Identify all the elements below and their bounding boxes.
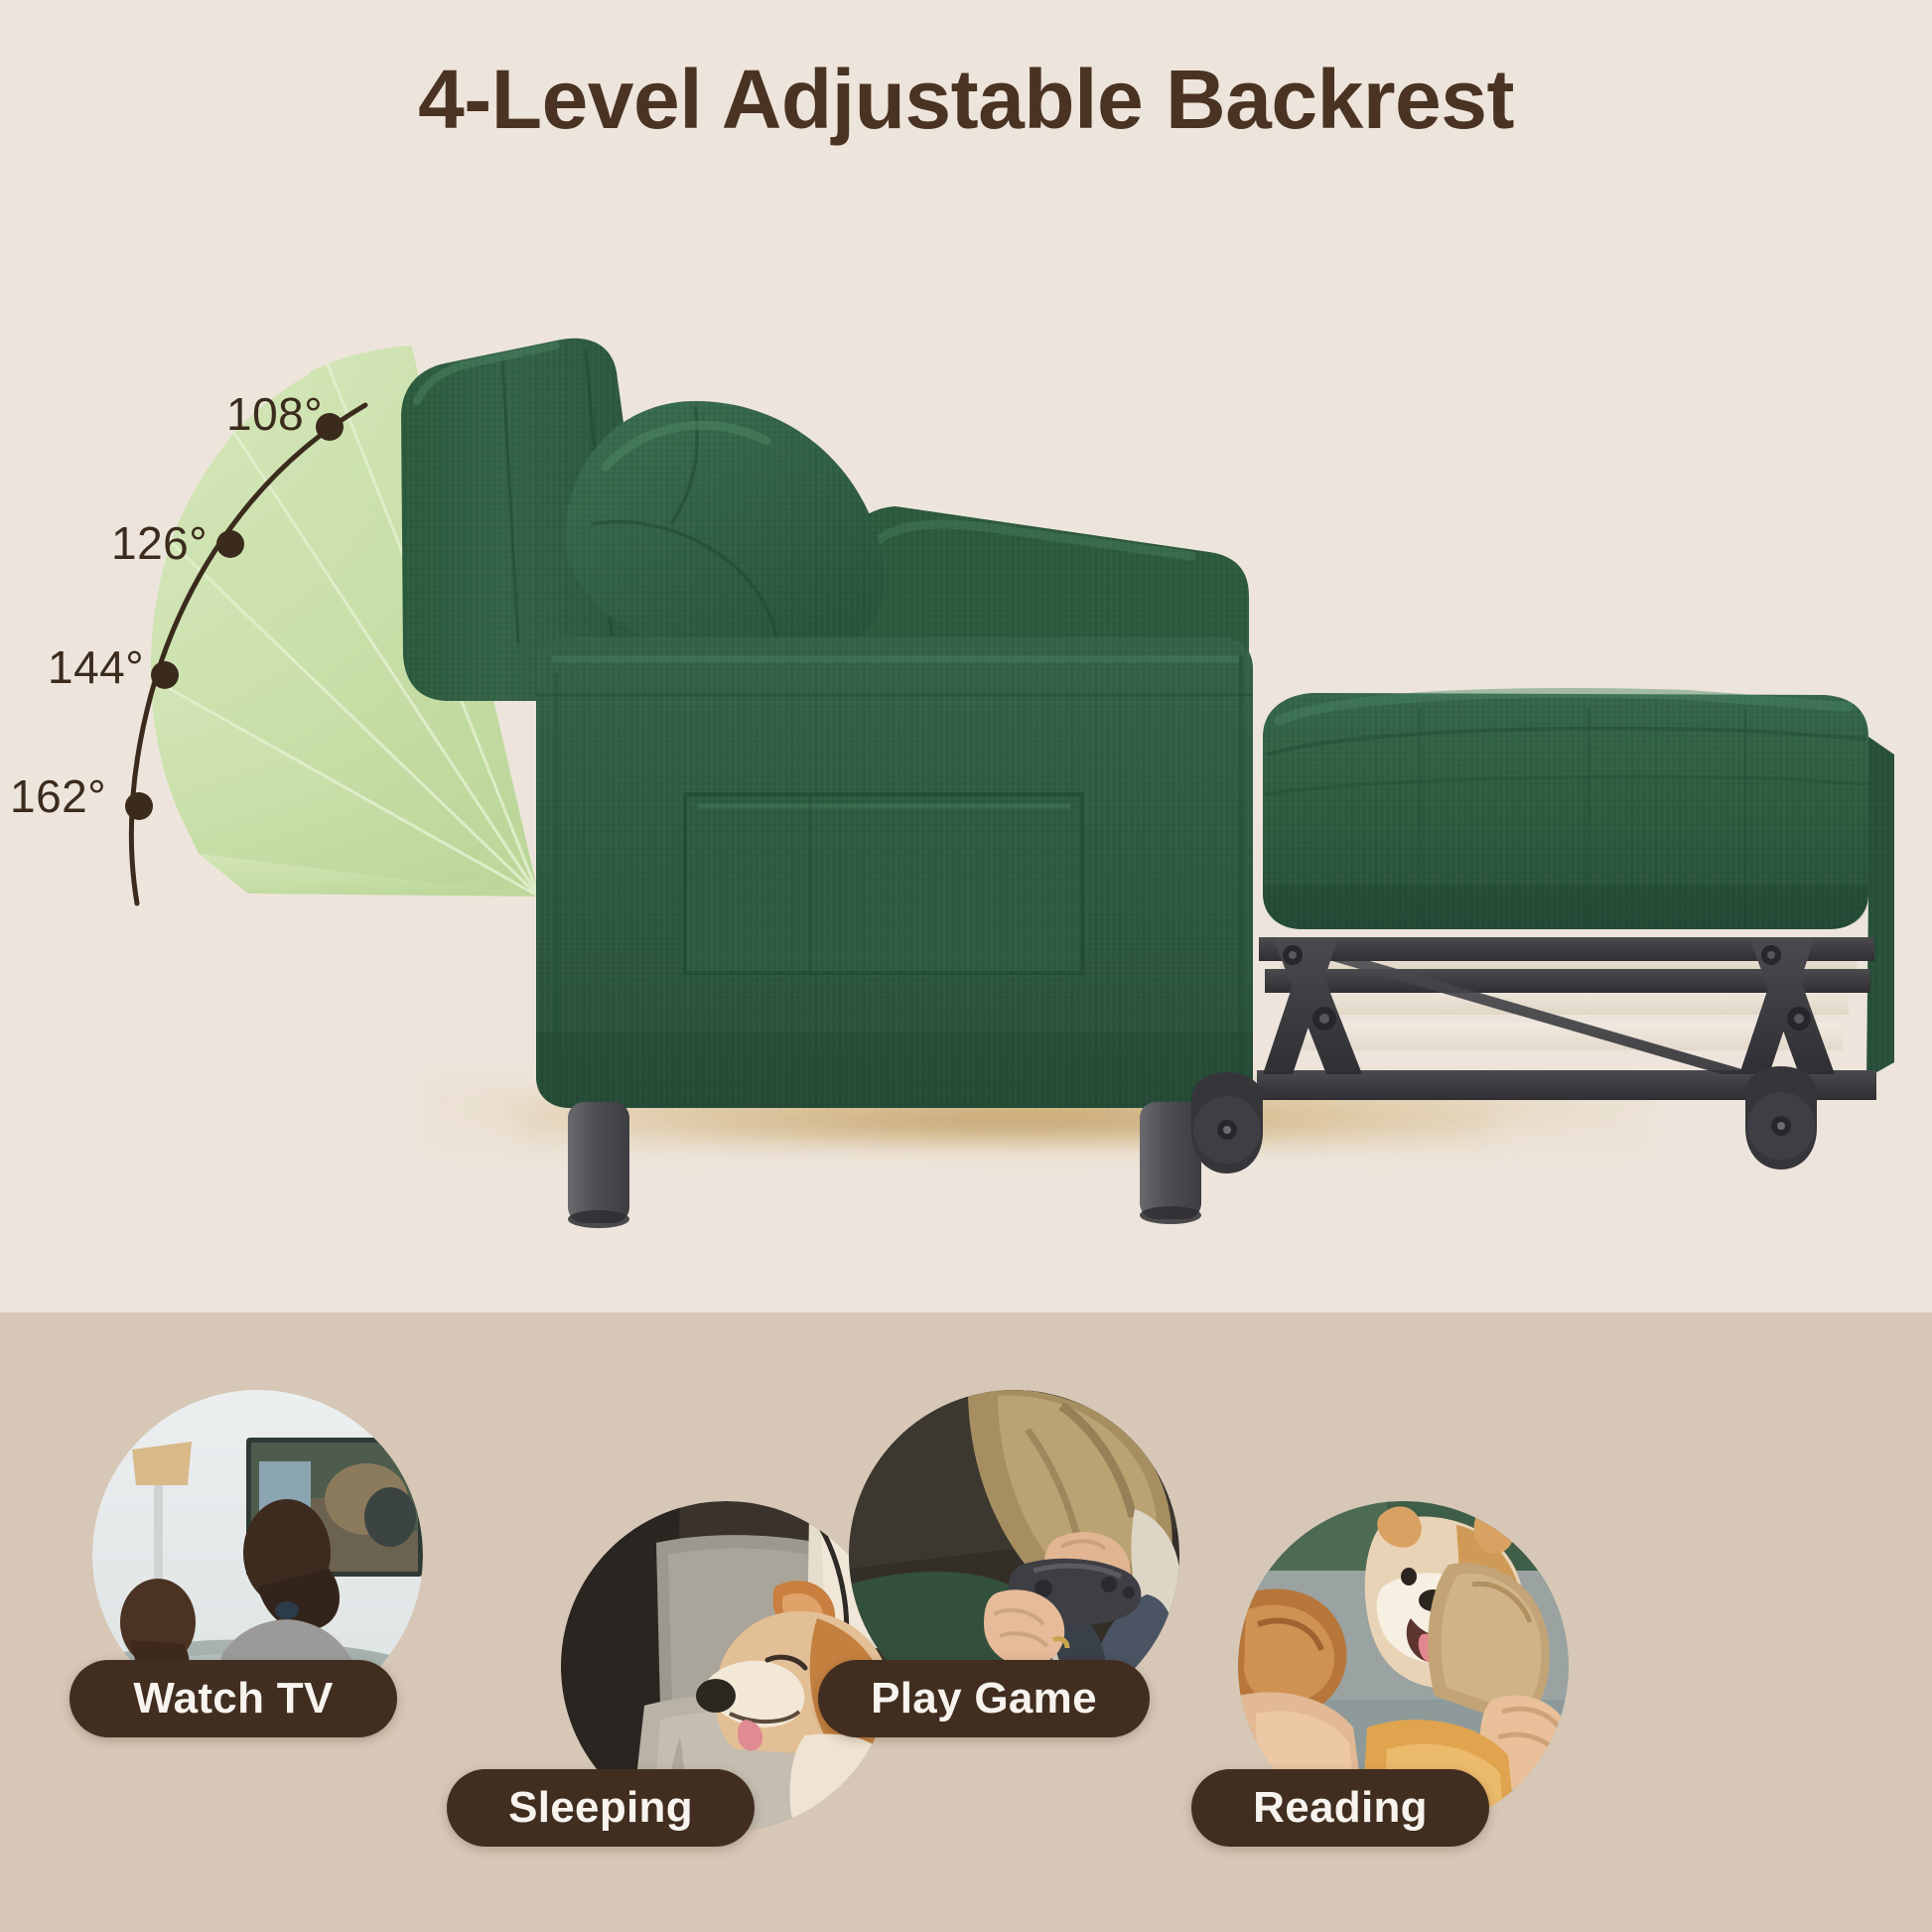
recline-diagram-panel: 4-Level Adjustable Backrest [0, 0, 1932, 1312]
angle-label-126: 126° [111, 516, 207, 570]
use-case-label-watch-tv: Watch TV [133, 1674, 333, 1724]
angle-marker-dots [125, 413, 344, 820]
use-case-pill-reading: Reading [1191, 1769, 1489, 1847]
angle-label-162: 162° [10, 769, 106, 823]
use-case-label-play-game: Play Game [871, 1674, 1097, 1724]
recline-angle-arc [0, 0, 1932, 1312]
infographic-root: 4-Level Adjustable Backrest [0, 0, 1932, 1932]
use-cases-panel: Watch TV [0, 1312, 1932, 1932]
use-case-label-reading: Reading [1253, 1783, 1428, 1833]
angle-label-108: 108° [226, 387, 323, 441]
use-case-pill-watch-tv: Watch TV [69, 1660, 397, 1737]
use-case-pill-play-game: Play Game [818, 1660, 1150, 1737]
use-case-pill-sleeping: Sleeping [447, 1769, 755, 1847]
angle-label-144: 144° [48, 640, 144, 694]
use-case-label-sleeping: Sleeping [508, 1783, 693, 1833]
